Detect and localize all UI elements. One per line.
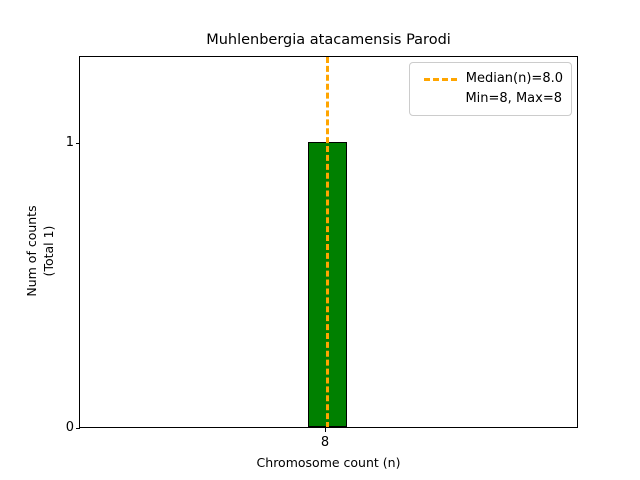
y-tick-label-1: 1 <box>66 136 74 149</box>
chart-title: Muhlenbergia atacamensis Parodi <box>79 31 578 49</box>
chart-legend: Median(n)=8.0 Min=8, Max=8 <box>409 62 572 116</box>
legend-entry-median: Median(n)=8.0 <box>418 69 563 89</box>
x-tick-label-8: 8 <box>321 436 329 449</box>
x-axis-ticks: 8 <box>79 428 578 440</box>
legend-entry-minmax: Min=8, Max=8 <box>418 89 563 109</box>
y-axis-label: Num of counts (Total 1) <box>23 65 57 437</box>
y-tick-label-0: 0 <box>66 421 74 434</box>
legend-label-minmax: Min=8, Max=8 <box>465 91 562 107</box>
legend-label-median: Median(n)=8.0 <box>466 71 563 87</box>
dashed-line-icon <box>424 78 457 81</box>
median-line <box>326 57 329 427</box>
y-axis-label-container: Num of counts (Total 1) <box>20 56 60 428</box>
y-tick-mark-1 <box>76 143 80 144</box>
figure-canvas: Muhlenbergia atacamensis Parodi Num of c… <box>0 0 640 480</box>
x-tick-mark-8 <box>325 428 326 432</box>
x-axis-label: Chromosome count (n) <box>79 455 578 470</box>
